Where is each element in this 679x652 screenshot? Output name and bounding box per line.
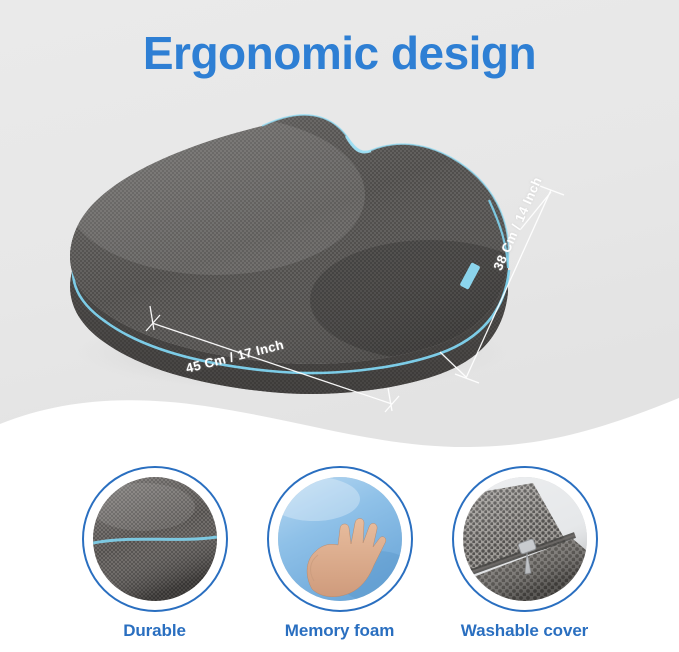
mesh-fabric-closeup-image xyxy=(93,477,217,601)
feature-label: Durable xyxy=(123,621,186,641)
feature-memory-foam: Memory foam xyxy=(265,466,415,641)
feature-label: Memory foam xyxy=(285,621,394,641)
feature-label: Washable cover xyxy=(461,621,588,641)
page-title: Ergonomic design xyxy=(0,26,679,80)
hand-pressing-foam-image xyxy=(278,477,402,601)
feature-ring xyxy=(82,466,228,612)
feature-durable: Durable xyxy=(80,466,230,641)
feature-ring xyxy=(452,466,598,612)
feature-washable-cover: Washable cover xyxy=(450,466,600,641)
feature-ring xyxy=(267,466,413,612)
product-infographic: Ergonomic design 45 Cm / 17 Inch 38 Cm /… xyxy=(0,0,679,652)
zipper-closeup-image xyxy=(463,477,587,601)
feature-strip: Durable xyxy=(0,466,679,652)
